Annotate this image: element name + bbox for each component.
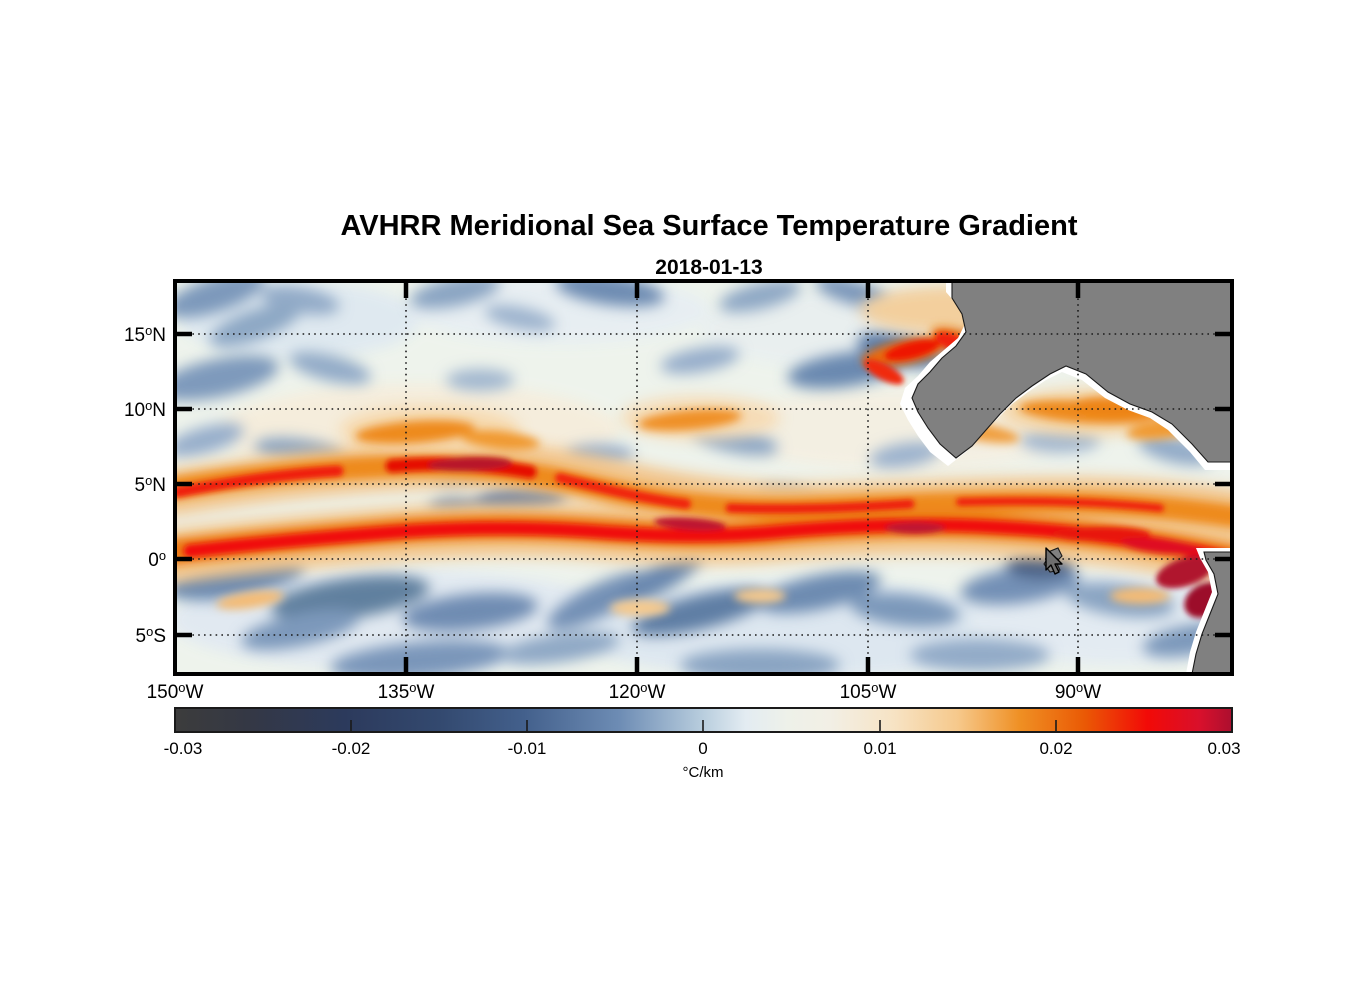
xtick-label-120w: 120oW xyxy=(609,680,666,703)
colorbar-label-0.02: 0.02 xyxy=(1039,739,1072,758)
colorbar-label-0: 0 xyxy=(698,739,707,758)
colorbar-unit-label: °C/km xyxy=(683,764,724,781)
colorbar-label-0.01: 0.01 xyxy=(863,739,896,758)
ytick-label-15n: 15oN xyxy=(124,323,166,346)
colorbar-label--0.03: -0.03 xyxy=(164,739,203,758)
xtick-label-105w: 105oW xyxy=(840,680,897,703)
colorbar-label-0.03: 0.03 xyxy=(1207,739,1240,758)
figure-date-subtitle: 2018-01-13 xyxy=(655,256,762,279)
colorbar-label--0.02: -0.02 xyxy=(332,739,371,758)
colorbar[interactable] xyxy=(175,708,1232,732)
ytick-label-10n: 10oN xyxy=(124,398,166,421)
sst-gradient-figure: AVHRR Meridional Sea Surface Temperature… xyxy=(0,0,1356,1000)
page-title: AVHRR Meridional Sea Surface Temperature… xyxy=(340,210,1077,242)
xtick-label-135w: 135oW xyxy=(378,680,435,703)
colorbar-label--0.01: -0.01 xyxy=(508,739,547,758)
xtick-label-150w: 150oW xyxy=(147,680,204,703)
